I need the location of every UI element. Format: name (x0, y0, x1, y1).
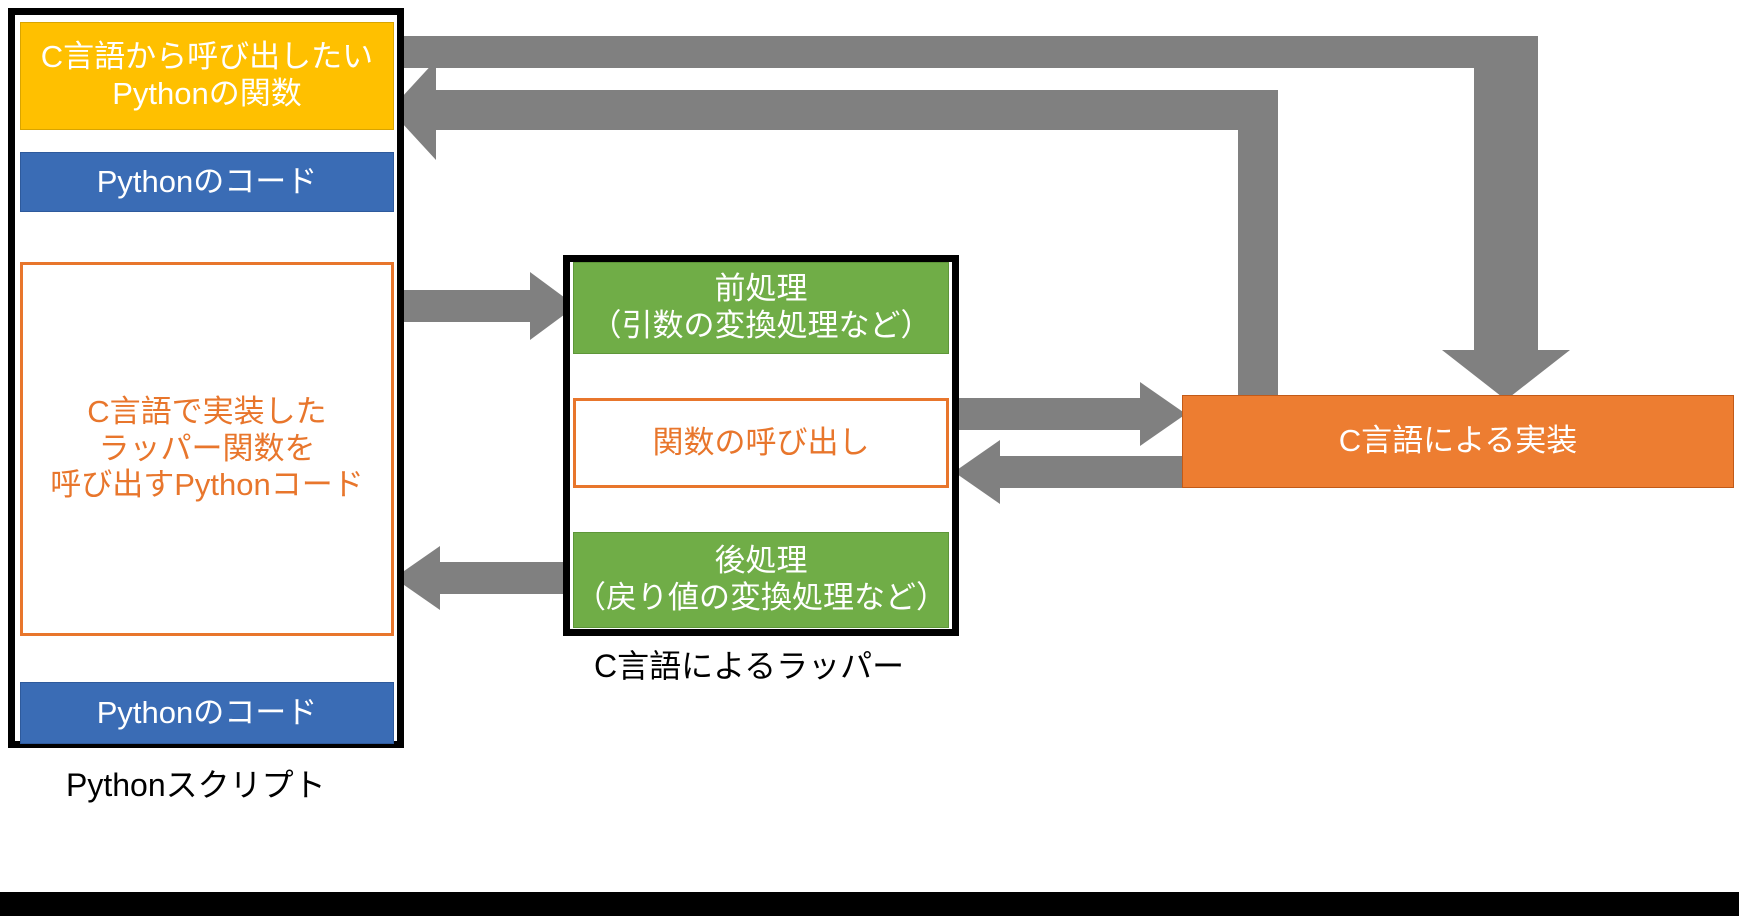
postprocess-box[interactable]: 後処理 （戻り値の変換処理など） (573, 532, 949, 628)
preprocess-box[interactable]: 前処理 （引数の変換処理など） (573, 262, 949, 354)
arrow-function-call-to-implementation (950, 382, 1186, 446)
function-call-box[interactable]: 関数の呼び出し (573, 398, 949, 488)
python-code-bottom-box[interactable]: Pythonのコード (20, 682, 394, 744)
arrow-postprocess-to-python-code (394, 546, 570, 610)
c-implementation-box[interactable]: C言語による実装 (1182, 395, 1734, 488)
arrow-python-code-to-preprocess (396, 272, 576, 340)
python-script-caption: Pythonスクリプト (66, 760, 326, 806)
arrow-implementation-to-function-call (954, 440, 1186, 504)
c-wrapper-caption: C言語によるラッパー (594, 641, 904, 687)
wrapper-caller-python-code-box[interactable]: C言語で実装した ラッパー関数を 呼び出すPythonコード (20, 262, 394, 636)
bottom-black-band (0, 892, 1739, 916)
python-code-top-box[interactable]: Pythonのコード (20, 152, 394, 212)
target-python-function-box[interactable]: C言語から呼び出したい Pythonの関数 (20, 22, 394, 130)
diagram-canvas: C言語から呼び出したい Pythonの関数 Pythonのコード C言語で実装し… (0, 0, 1739, 916)
